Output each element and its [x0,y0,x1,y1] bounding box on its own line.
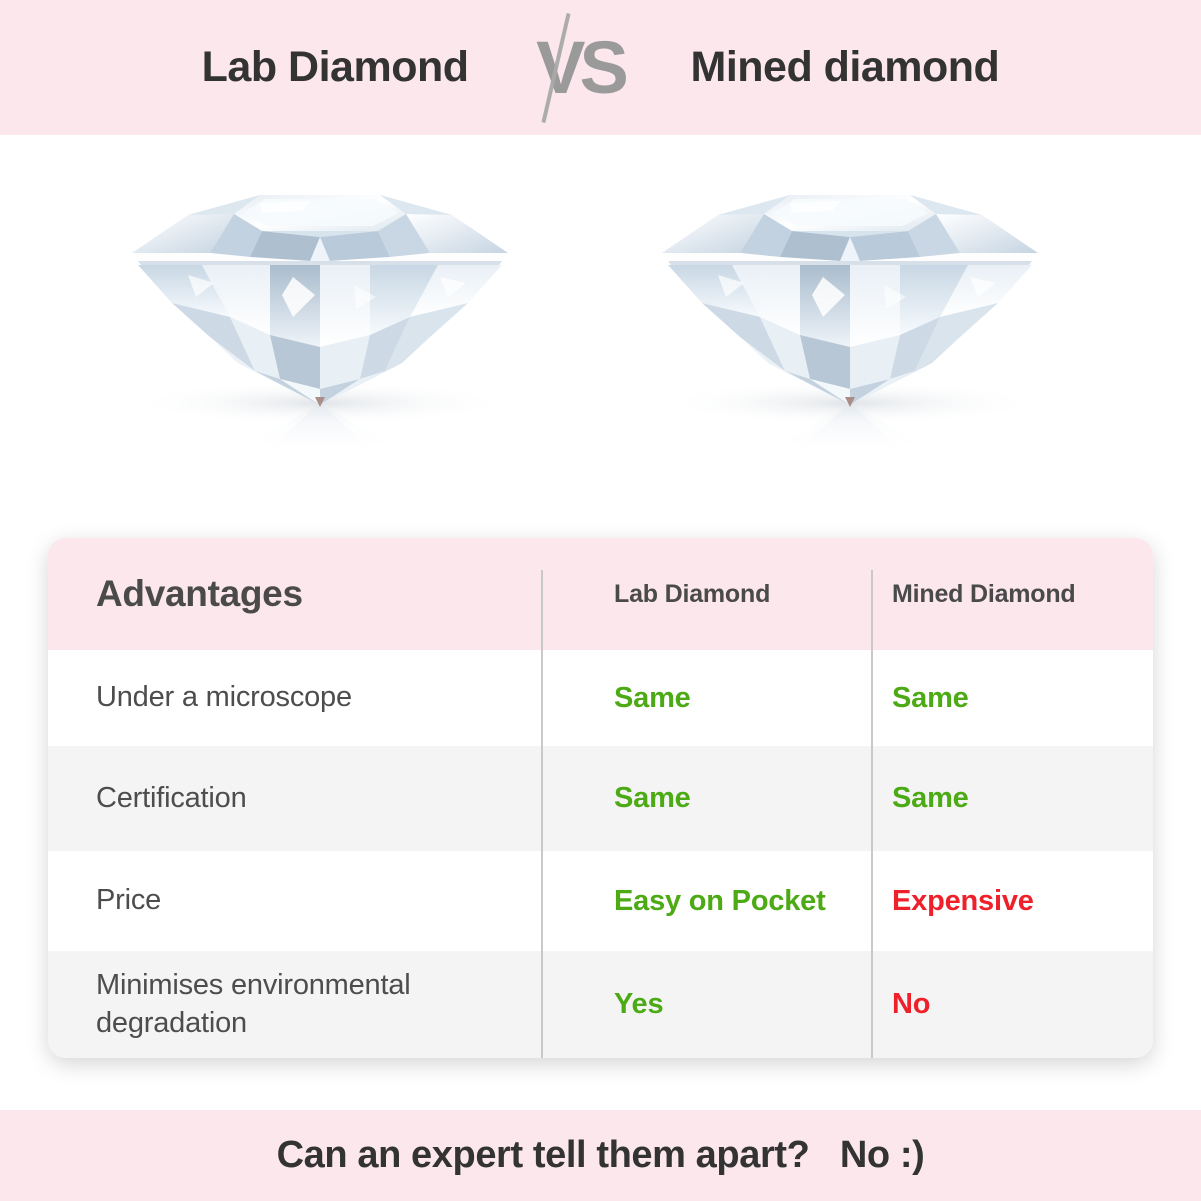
feature-label: Price [96,884,161,916]
row-feature-cell: Price [48,882,541,919]
row-lab-cell: Yes [541,988,871,1021]
column-divider-1 [541,570,543,1058]
versus-badge: VS [505,8,655,128]
column-divider-2 [871,570,873,1058]
footer-question: Can an expert tell them apart? No :) [277,1134,925,1177]
row-lab-cell: Same [541,782,871,815]
feature-label: Certification [96,782,247,814]
mined-value: Expensive [892,885,1034,917]
row-feature-cell: Certification [48,780,541,817]
table-row: Certification Same Same [48,746,1153,851]
row-mined-cell: Same [871,682,1153,715]
lab-value: Yes [614,988,663,1020]
row-mined-cell: Same [871,782,1153,815]
header-cell-lab-diamond: Lab Diamond [541,580,871,609]
table-title: Advantages [96,573,303,614]
feature-label: Minimises environmental degradation [96,969,411,1038]
table-row: Price Easy on Pocket Expensive [48,851,1153,951]
lab-value: Same [614,782,691,814]
table-header-row: Advantages Lab Diamond Mined Diamond [48,538,1153,650]
footer-band: Can an expert tell them apart? No :) [0,1110,1201,1201]
row-mined-cell: No [871,988,1153,1021]
column-header-mined: Mined Diamond [892,580,1076,608]
lab-value: Easy on Pocket [614,885,826,917]
row-feature-cell: Minimises environmental degradation [48,967,541,1041]
row-feature-cell: Under a microscope [48,679,541,716]
mined-diamond-image [640,157,1060,487]
table-row: Minimises environmental degradation Yes … [48,951,1153,1058]
row-lab-cell: Same [541,682,871,715]
diamond-image-area [0,135,1201,535]
right-product-title: Mined diamond [691,43,1000,92]
left-product-title: Lab Diamond [202,43,469,92]
lab-value: Same [614,682,691,714]
table-row: Under a microscope Same Same [48,650,1153,746]
row-mined-cell: Expensive [871,885,1153,918]
feature-label: Under a microscope [96,681,352,713]
header-cell-advantages: Advantages [48,573,541,615]
lab-diamond-image [110,157,530,487]
header-band: Lab Diamond VS Mined diamond [0,0,1201,135]
row-lab-cell: Easy on Pocket [541,885,871,918]
mined-value: Same [892,682,969,714]
mined-value: No [892,988,930,1020]
comparison-table-card: Advantages Lab Diamond Mined Diamond Und… [48,538,1153,1058]
mined-value: Same [892,782,969,814]
header-cell-mined-diamond: Mined Diamond [871,580,1153,609]
column-header-lab: Lab Diamond [614,580,770,608]
